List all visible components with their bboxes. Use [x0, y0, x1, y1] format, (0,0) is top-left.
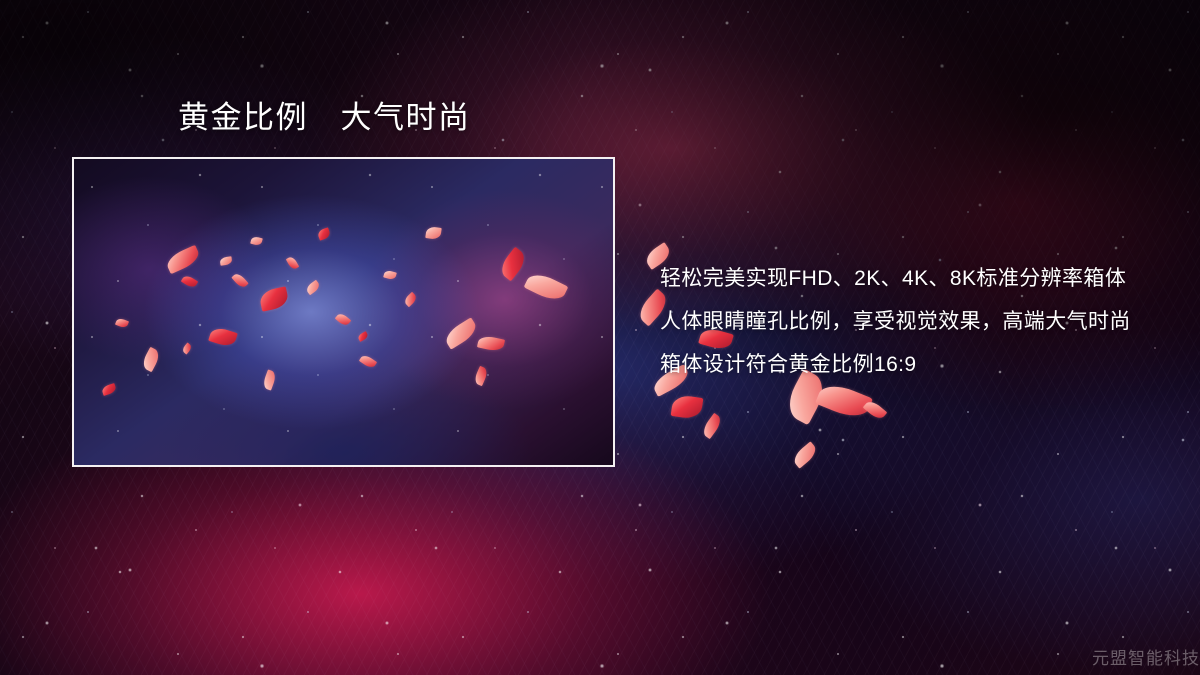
- framed-image-starfield: [74, 159, 613, 465]
- body-line-3: 箱体设计符合黄金比例16:9: [660, 343, 1131, 386]
- body-line-1: 轻松完美实现FHD、2K、4K、8K标准分辨率箱体: [660, 257, 1131, 300]
- framed-image: [72, 157, 615, 467]
- body-line-2: 人体眼睛瞳孔比例，享受视觉效果，高端大气时尚: [660, 300, 1131, 343]
- slide-canvas: 黄金比例 大气时尚 轻松完: [0, 0, 1200, 675]
- watermark: 元盟智能科技: [1092, 644, 1200, 669]
- body-text-block: 轻松完美实现FHD、2K、4K、8K标准分辨率箱体 人体眼睛瞳孔比例，享受视觉效…: [660, 257, 1131, 386]
- page-title: 黄金比例 大气时尚: [178, 101, 471, 135]
